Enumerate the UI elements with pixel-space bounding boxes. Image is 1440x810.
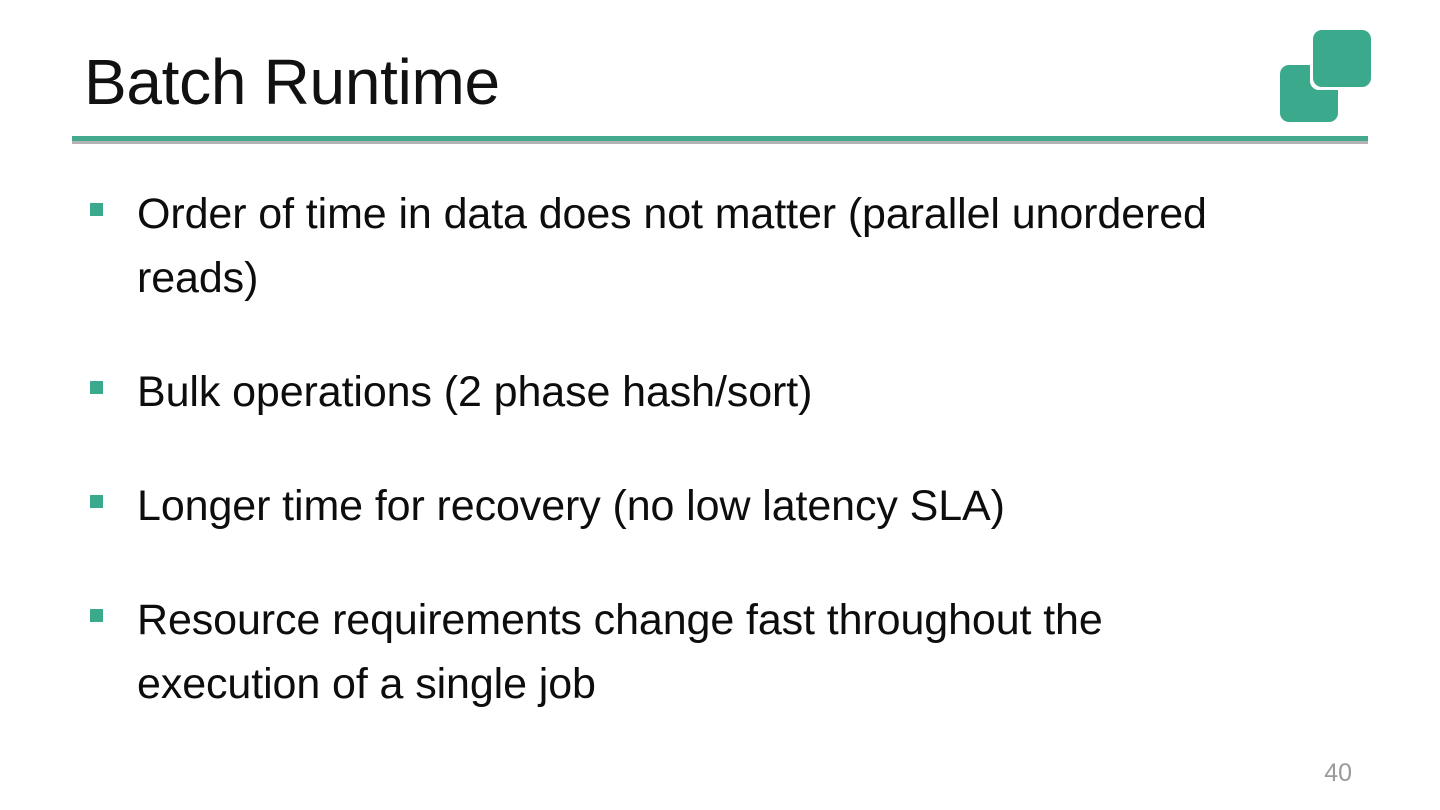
page-number: 40 bbox=[1324, 758, 1352, 788]
square-bullet-icon bbox=[90, 495, 103, 508]
list-item-label: Bulk operations (2 phase hash/sort) bbox=[137, 360, 1264, 424]
list-item-label: Longer time for recovery (no low latency… bbox=[137, 474, 1264, 538]
list-item-label: Resource requirements change fast throug… bbox=[137, 588, 1264, 716]
list-item-label: Order of time in data does not matter (p… bbox=[137, 182, 1264, 310]
slide: Batch Runtime Order of time in data does… bbox=[0, 0, 1440, 810]
square-bullet-icon bbox=[90, 381, 103, 394]
list-item: Longer time for recovery (no low latency… bbox=[84, 474, 1264, 538]
list-item: Bulk operations (2 phase hash/sort) bbox=[84, 360, 1264, 424]
list-item: Resource requirements change fast throug… bbox=[84, 588, 1264, 716]
bullet-list: Order of time in data does not matter (p… bbox=[84, 182, 1264, 716]
square-bullet-icon bbox=[90, 609, 103, 622]
brand-logo bbox=[1276, 26, 1374, 124]
square-bullet-icon bbox=[90, 203, 103, 216]
list-item: Order of time in data does not matter (p… bbox=[84, 182, 1264, 310]
logo-square-front-icon bbox=[1313, 30, 1371, 87]
title-divider-shadow bbox=[72, 141, 1368, 144]
page-title: Batch Runtime bbox=[84, 46, 500, 118]
